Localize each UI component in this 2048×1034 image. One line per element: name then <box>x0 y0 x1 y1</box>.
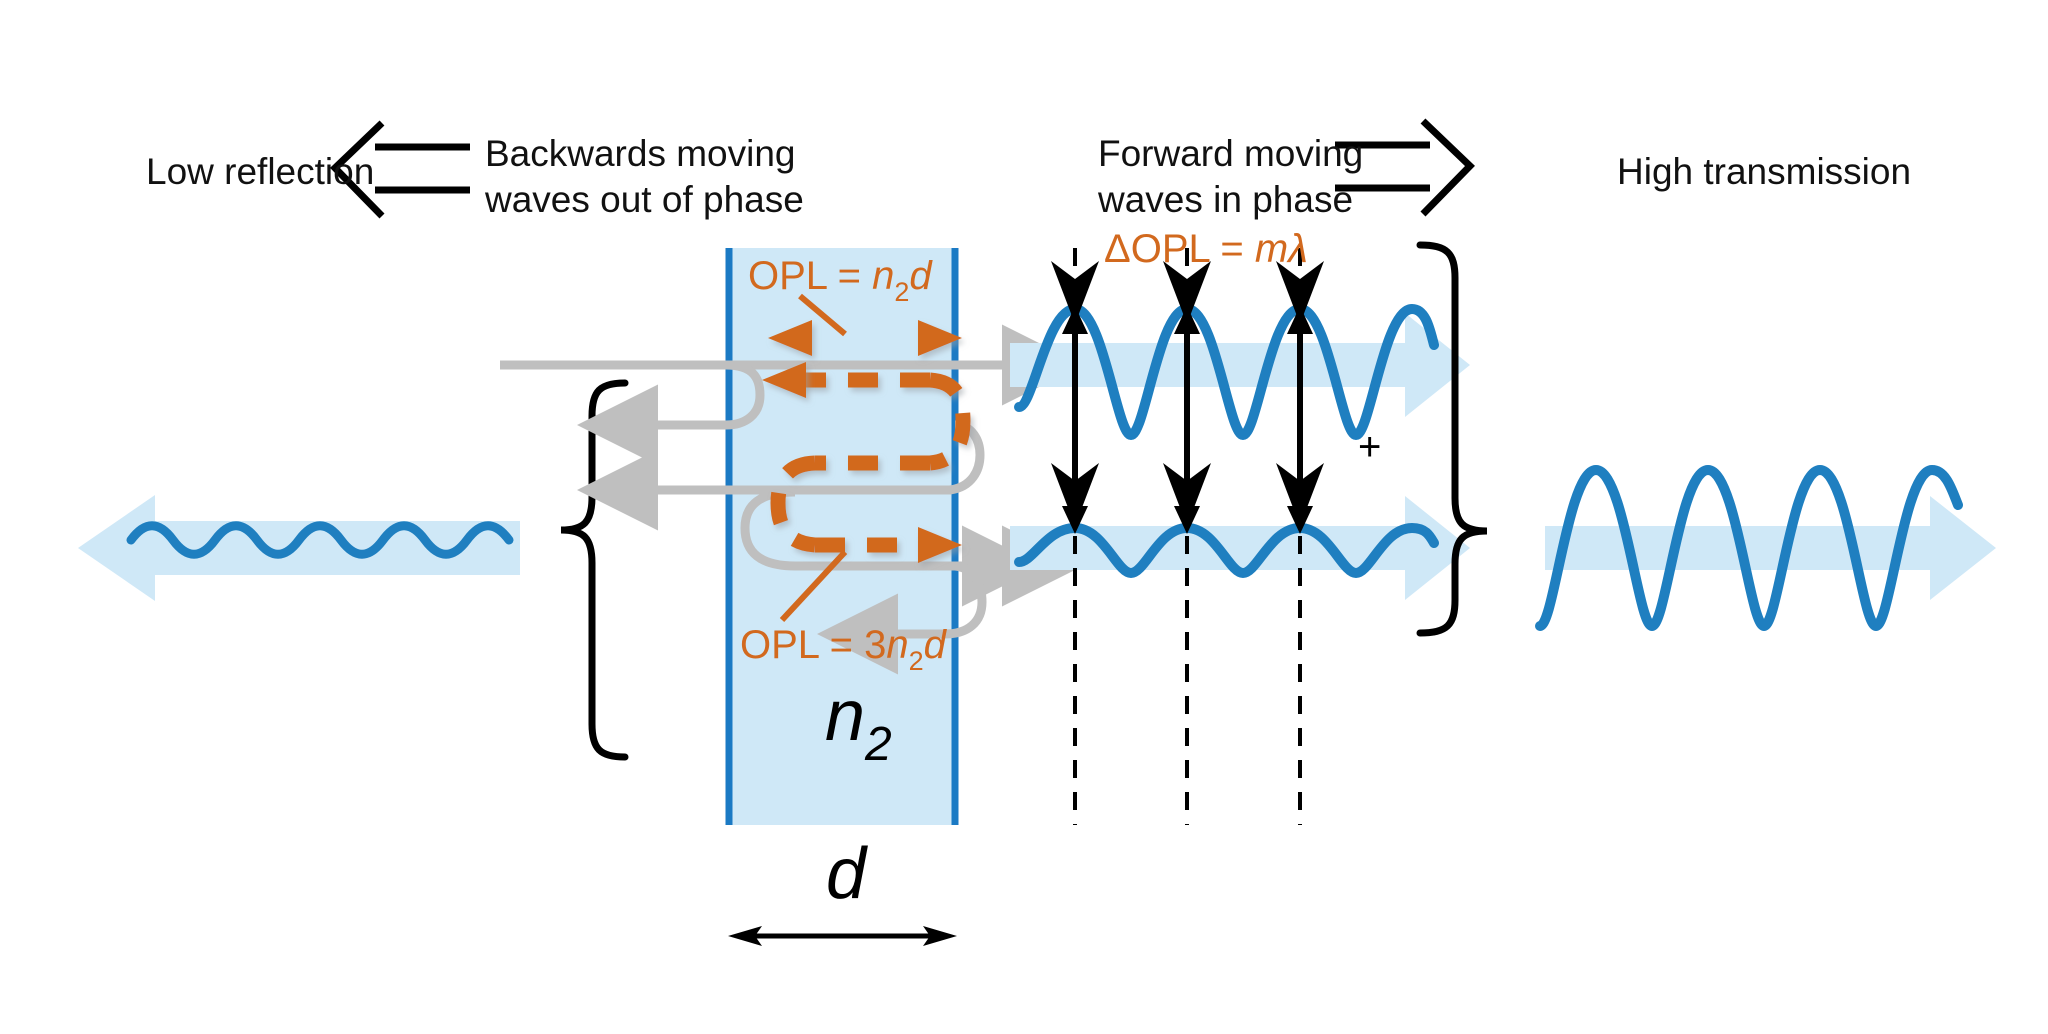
opl-top-prefix: OPL = <box>748 254 872 298</box>
label-backwards-line2: waves out of phase <box>484 179 804 220</box>
thickness-label: d <box>826 834 868 914</box>
opl-bottom-sub: 2 <box>909 646 924 676</box>
curly-brace-left-icon <box>561 383 625 757</box>
delta-opl-prefix: ΔOPL = <box>1104 227 1255 271</box>
delta-opl-lambda: λ <box>1286 227 1308 271</box>
label-backwards-line1: Backwards moving <box>485 133 796 174</box>
opl-top-n: n <box>872 254 894 298</box>
opl-bottom-n: n <box>886 623 908 667</box>
delta-opl-m: m <box>1255 227 1288 271</box>
slab-index-n: n <box>825 676 865 756</box>
slab-index-sub: 2 <box>864 718 892 771</box>
opl-top-tail: d <box>909 254 933 298</box>
opl-top-sub: 2 <box>894 277 909 307</box>
label-high-transmission: High transmission <box>1617 151 1911 192</box>
label-plus-sign: + <box>1358 425 1381 469</box>
label-low-reflection: Low reflection <box>146 151 374 192</box>
formula-delta-opl: ΔOPL = mλ <box>1104 227 1308 271</box>
opl-bottom-tail: d <box>924 623 948 667</box>
diagram-canvas: Low reflection Backwards moving waves ou… <box>0 0 2048 1034</box>
label-forward-line2: waves in phase <box>1097 179 1353 220</box>
transmitted-beam-band <box>1545 496 1996 600</box>
opl-bottom-prefix: OPL = 3 <box>740 623 886 667</box>
label-forward-line1: Forward moving <box>1098 133 1363 174</box>
